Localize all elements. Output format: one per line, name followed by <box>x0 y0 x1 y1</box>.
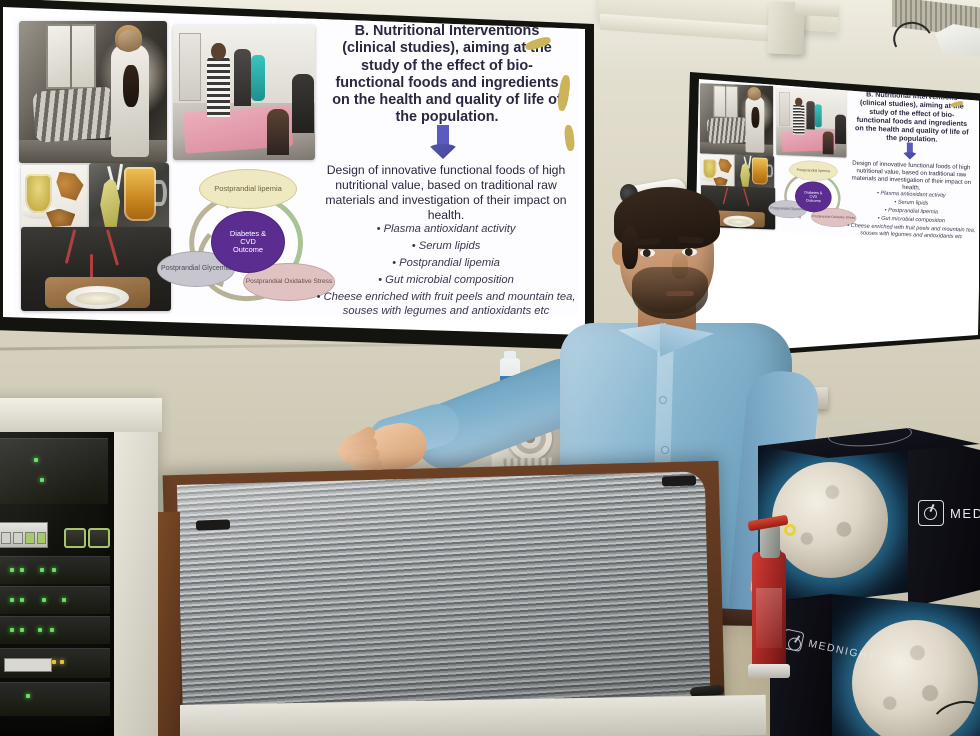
fire-extinguisher-pin-ring <box>784 524 796 536</box>
slide-photo-lab-sample-plate <box>21 227 171 311</box>
av-rack-glass-door[interactable] <box>0 432 114 736</box>
status-led <box>62 598 66 602</box>
eye <box>640 249 655 257</box>
roller-shutter-cabinet[interactable] <box>163 461 726 736</box>
mednight-brand-upper: MEDNIGHT <box>918 500 980 526</box>
av-rack-frame-post <box>114 398 158 736</box>
rack-unit <box>0 616 110 644</box>
panel-button[interactable] <box>37 532 46 544</box>
slide-title-line: study of the effect of bio- <box>319 58 575 75</box>
finger <box>349 456 382 470</box>
status-led <box>40 478 44 482</box>
fire-extinguisher-label <box>756 588 782 648</box>
mouth <box>666 291 694 296</box>
fire-extinguisher-neck <box>760 524 780 558</box>
panel-button[interactable] <box>1 532 11 544</box>
cabinet-clip <box>662 475 696 486</box>
eyebrow <box>678 236 704 243</box>
status-led <box>20 568 24 572</box>
projector-mount-arm <box>795 1 840 17</box>
shirt-button <box>662 447 668 453</box>
slide-photo-herbal-tea-cup <box>21 165 89 231</box>
slide-photo-clinic-blood-draw <box>19 21 167 163</box>
status-led-amber <box>52 660 56 664</box>
rack-unit <box>0 556 110 584</box>
rack-control-panel[interactable] <box>0 522 48 548</box>
slide-photo-study-room-table <box>173 25 315 160</box>
status-led-amber <box>60 660 64 664</box>
venn-diagram: Postprandial lipemia Postprandial Glycem… <box>175 169 321 311</box>
panel-button[interactable] <box>13 532 23 544</box>
cabinet-clip <box>196 519 230 530</box>
rack-unit <box>0 648 110 678</box>
rack-unit <box>0 586 110 614</box>
slide-body-text: Design of innovative functional foods of… <box>846 159 978 194</box>
status-led <box>52 568 56 572</box>
av-rack-top-panel <box>0 398 162 432</box>
slide-bullet-list: Plasma antioxidant activity Serum lipids… <box>846 189 978 243</box>
status-led <box>26 694 30 698</box>
status-led <box>34 458 38 462</box>
shirt-button <box>660 397 666 403</box>
wooden-trim-strip <box>158 512 180 736</box>
status-led <box>10 598 14 602</box>
status-led <box>40 568 44 572</box>
status-led <box>38 628 42 632</box>
slide-photo-clinic-blood-draw <box>700 83 773 156</box>
moon-graphic <box>772 462 888 578</box>
venn-node-postprandial-lipemia: Postprandial lipemia <box>199 169 297 209</box>
panel-button[interactable] <box>25 532 35 544</box>
status-led <box>50 628 54 632</box>
slide-photo-study-room-table <box>776 88 846 158</box>
rack-unit <box>0 438 108 504</box>
rack-faceplate <box>4 658 52 672</box>
hair <box>614 187 720 249</box>
rack-unit <box>0 682 110 716</box>
fire-extinguisher-base <box>748 664 790 678</box>
status-led <box>20 598 24 602</box>
decorative-dash <box>564 125 576 152</box>
down-arrow-icon <box>427 125 459 159</box>
status-led <box>10 628 14 632</box>
mednight-brand-text: MEDNIGHT <box>950 506 980 521</box>
slide-title-line: B. Nutritional Interventions <box>319 23 575 40</box>
mednight-logo-icon <box>918 500 944 526</box>
rack-knob[interactable] <box>88 528 110 548</box>
slide-bullet-item: Cheese enriched with fruit peels and mou… <box>846 222 978 240</box>
down-arrow-icon <box>902 142 918 159</box>
status-led <box>10 568 14 572</box>
presentation-room-photo: Postprandial lipemia Postprandial Glycem… <box>0 0 980 736</box>
status-led <box>20 628 24 632</box>
slide-title-line: on the health and quality of life of <box>319 92 575 109</box>
slide-photo-iced-tea-jar <box>89 163 169 235</box>
venn-center-diabetes-cvd-outcome: Diabetes & CVD Outcome <box>211 211 285 273</box>
rack-knob[interactable] <box>64 528 86 548</box>
slide-title: B. Nutritional Interventions (clinical s… <box>848 90 975 146</box>
slide-title-line: functional foods and ingredients <box>319 75 575 92</box>
status-led <box>42 598 46 602</box>
